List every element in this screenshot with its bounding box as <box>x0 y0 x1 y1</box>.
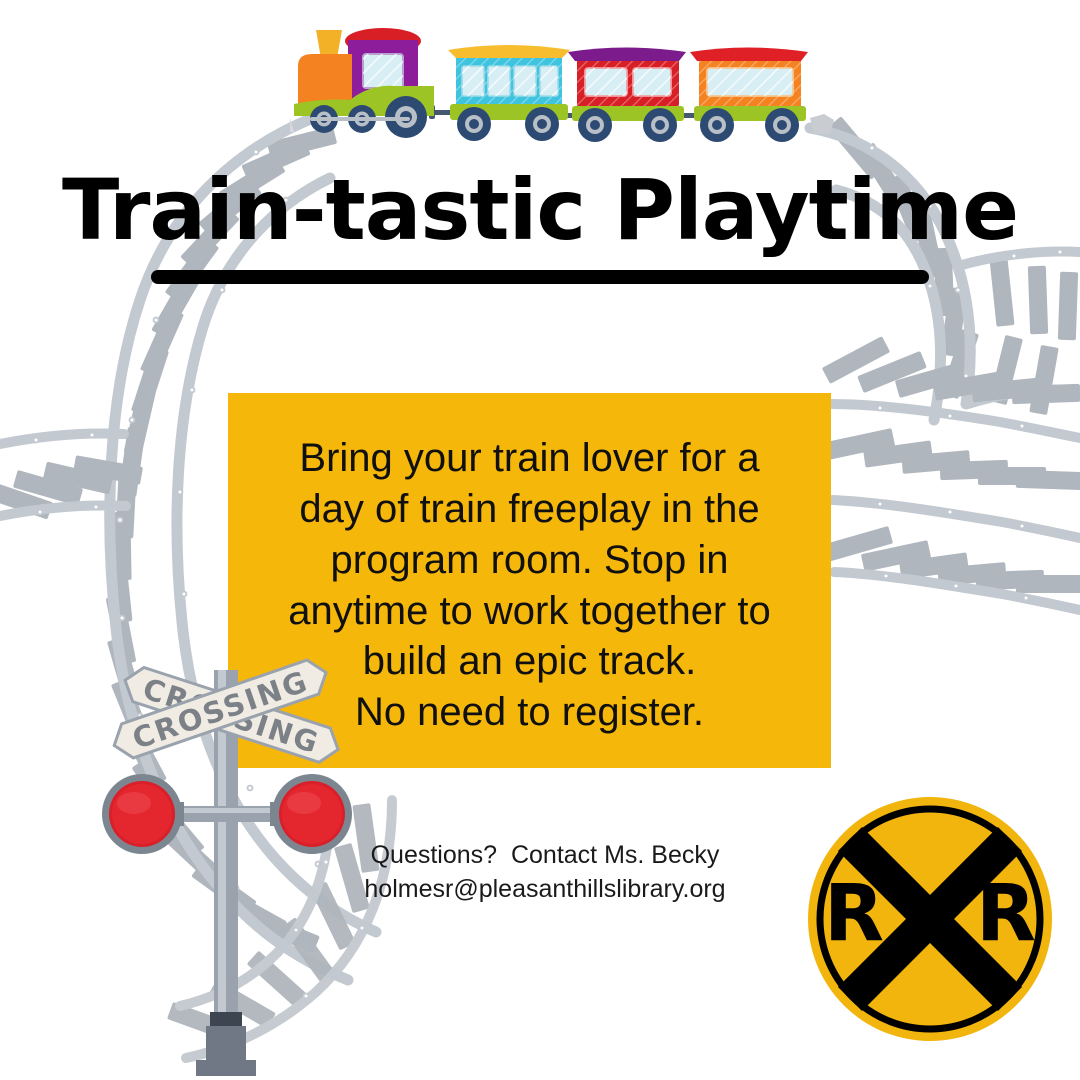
train-locomotive <box>290 28 434 138</box>
crossbuck-signal: CROSSING CROSSING <box>98 630 358 1080</box>
train-car-cyan <box>448 45 570 141</box>
track-left-fan <box>0 432 143 520</box>
train-car-red <box>568 48 686 143</box>
train-illustration <box>290 18 850 150</box>
train-car-orange <box>690 48 834 143</box>
track-right-descending <box>823 404 1080 610</box>
rxr-letter-right: R <box>976 869 1036 959</box>
poster-title-block: Train-tastic Playtime <box>0 168 1080 284</box>
signal-light-left <box>102 774 182 854</box>
track-right-fan <box>822 336 1080 404</box>
railroad-crossing-sign: R R <box>806 795 1054 1043</box>
page-title: Train-tastic Playtime <box>0 168 1080 252</box>
message-body: Bring your train lover for a day of trai… <box>288 433 770 738</box>
poster-canvas: Train-tastic Playtime Bring your train l… <box>0 0 1080 1080</box>
rxr-letter-left: R <box>824 869 884 959</box>
title-underline-rule <box>151 270 929 284</box>
signal-light-right <box>272 774 352 854</box>
